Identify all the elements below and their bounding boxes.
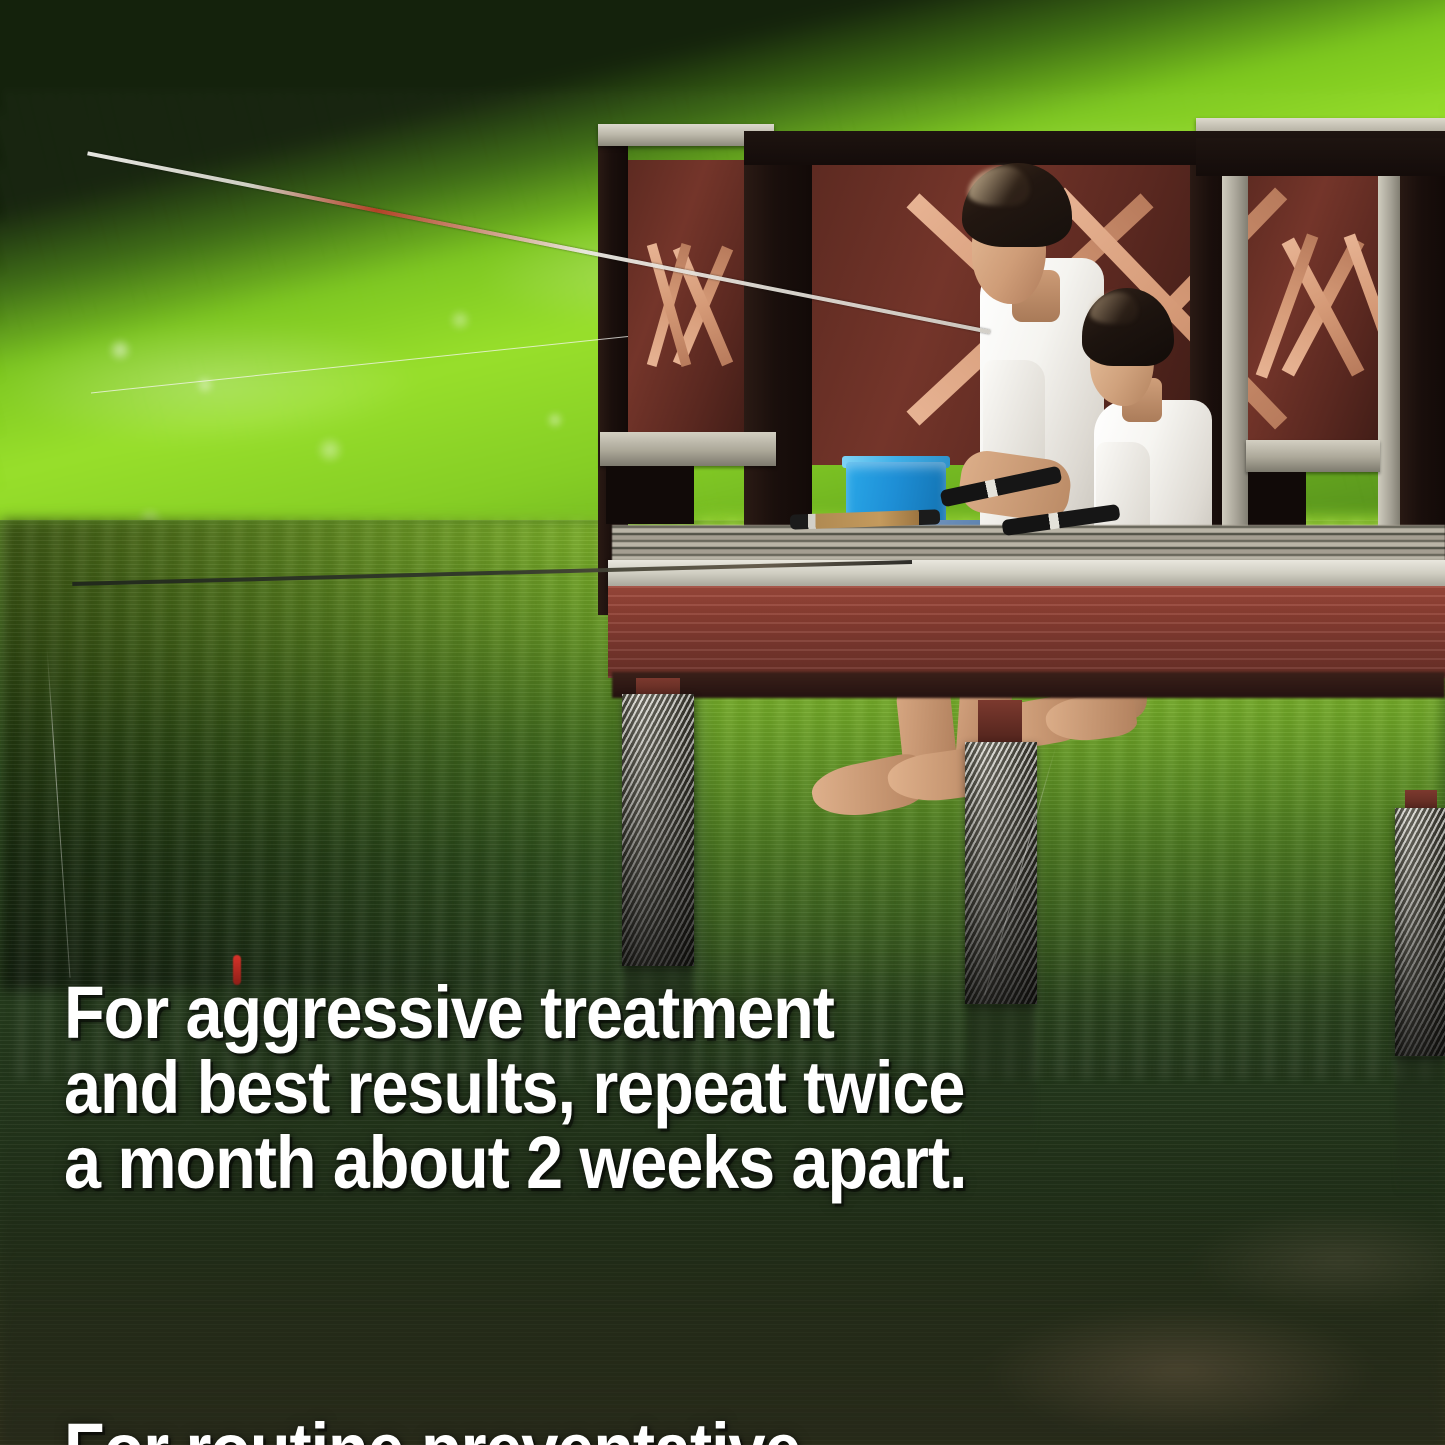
dock-shadow-block <box>1248 472 1306 530</box>
dock-top-beam <box>1196 138 1445 176</box>
paragraph-spacer <box>64 1275 1261 1337</box>
dock-stile <box>1222 142 1248 580</box>
dock-shadow-block <box>606 466 694 524</box>
instruction-paragraph-aggressive: For aggressive treatment and best result… <box>64 975 1261 1200</box>
dock-panel-left <box>628 160 746 460</box>
dock-lower-rail <box>1246 440 1380 472</box>
dock-underside-shadow <box>612 672 1445 698</box>
instruction-paragraph-routine: For routine preventative maintenance, re… <box>64 1412 1261 1445</box>
dock-lower-rail <box>600 432 776 466</box>
product-lifestyle-image: For aggressive treatment and best result… <box>0 0 1445 1445</box>
instruction-overlay-text: For aggressive treatment and best result… <box>64 900 1261 1445</box>
dock-fascia-texture <box>608 586 1445 678</box>
piling-shading <box>1395 808 1445 1056</box>
piling-reflection <box>1396 1056 1444 1196</box>
piling-cap <box>978 700 1022 746</box>
dock-stile <box>1378 142 1400 580</box>
dock-post <box>1398 138 1445 578</box>
dock-post <box>744 131 812 561</box>
